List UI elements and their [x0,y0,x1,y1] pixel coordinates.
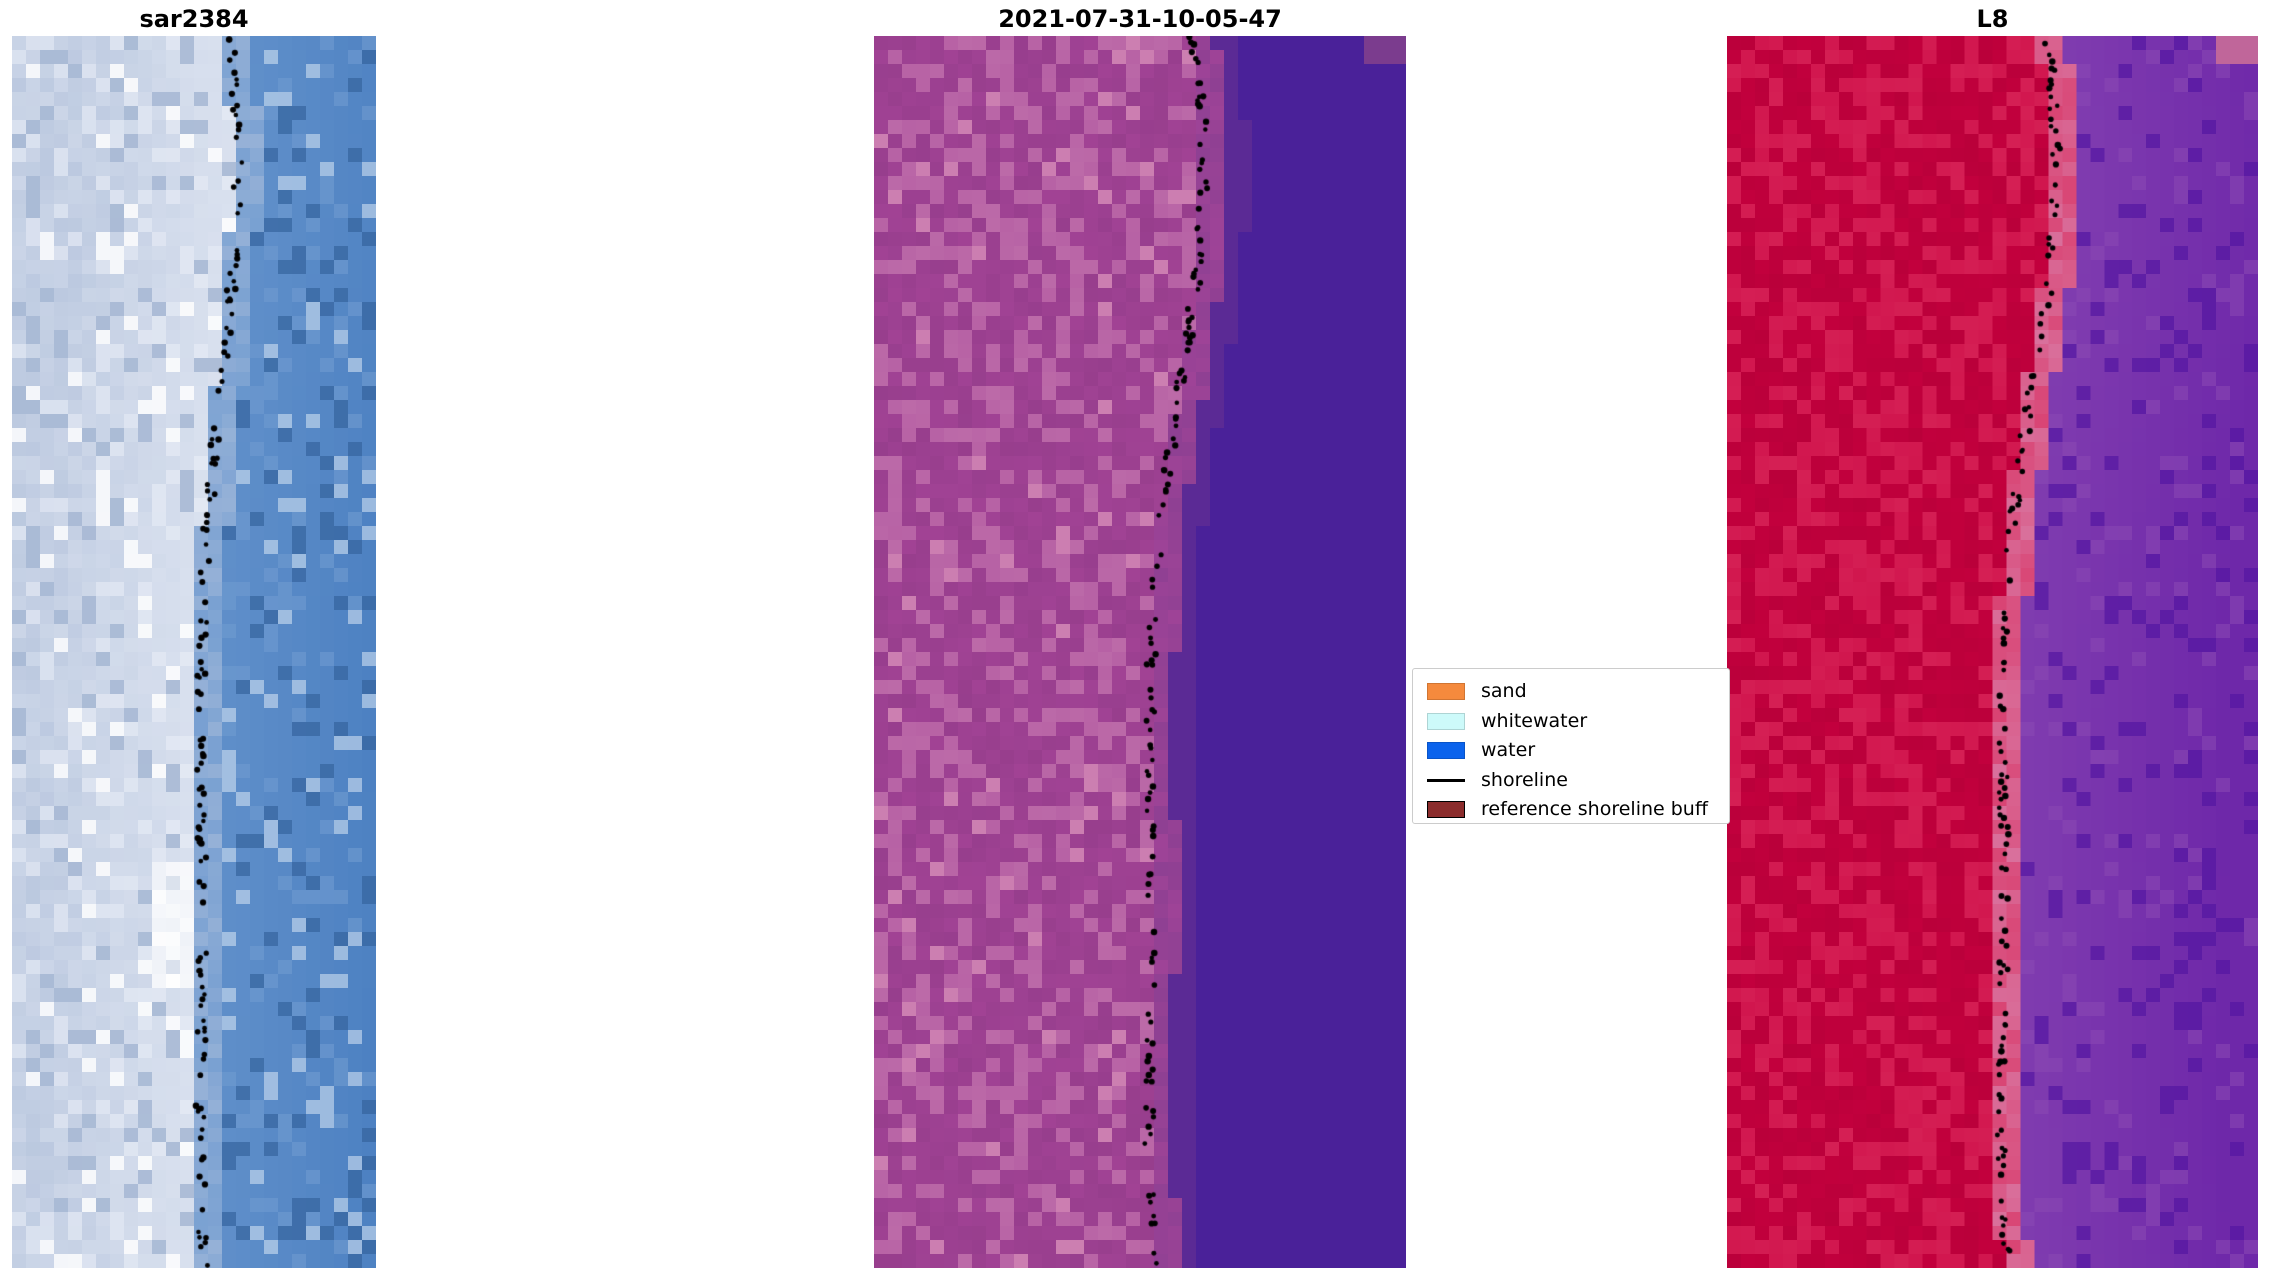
legend-item-water: water [1413,736,1729,766]
legend-swatch-reference-shoreline-buffer [1427,801,1465,818]
panel-sar[interactable] [12,36,376,1268]
legend-swatch-sand [1427,683,1465,700]
legend-item-shoreline: shoreline [1413,766,1729,796]
legend-label-reference-shoreline-buffer: reference shoreline buff [1481,800,1708,819]
legend-label-shoreline: shoreline [1481,771,1568,790]
panel-l8[interactable] [1727,36,2258,1268]
legend-label-sand: sand [1481,682,1527,701]
shoreline-overlay [1727,36,2258,1268]
shoreline-overlay [874,36,1406,1268]
shoreline-overlay [12,36,376,1268]
legend-label-whitewater: whitewater [1481,712,1587,731]
legend-label-water: water [1481,741,1535,760]
legend-swatch-shoreline [1427,779,1465,782]
legend-item-sand: sand [1413,677,1729,707]
panel-title-sar: sar2384 [12,5,376,33]
panel-rgb[interactable] [874,36,1406,1268]
legend-item-whitewater: whitewater [1413,707,1729,737]
legend-swatch-water [1427,742,1465,759]
legend-box: sand whitewater water shoreline referenc… [1412,668,1730,824]
legend-item-reference-shoreline-buffer: reference shoreline buff [1413,795,1729,824]
figure-canvas: sar2384 2021-07-31-10-05-47 L8 sand whit… [0,0,2274,1283]
legend-swatch-whitewater [1427,713,1465,730]
panel-title-l8: L8 [1727,5,2258,33]
panel-title-rgb: 2021-07-31-10-05-47 [874,5,1406,33]
